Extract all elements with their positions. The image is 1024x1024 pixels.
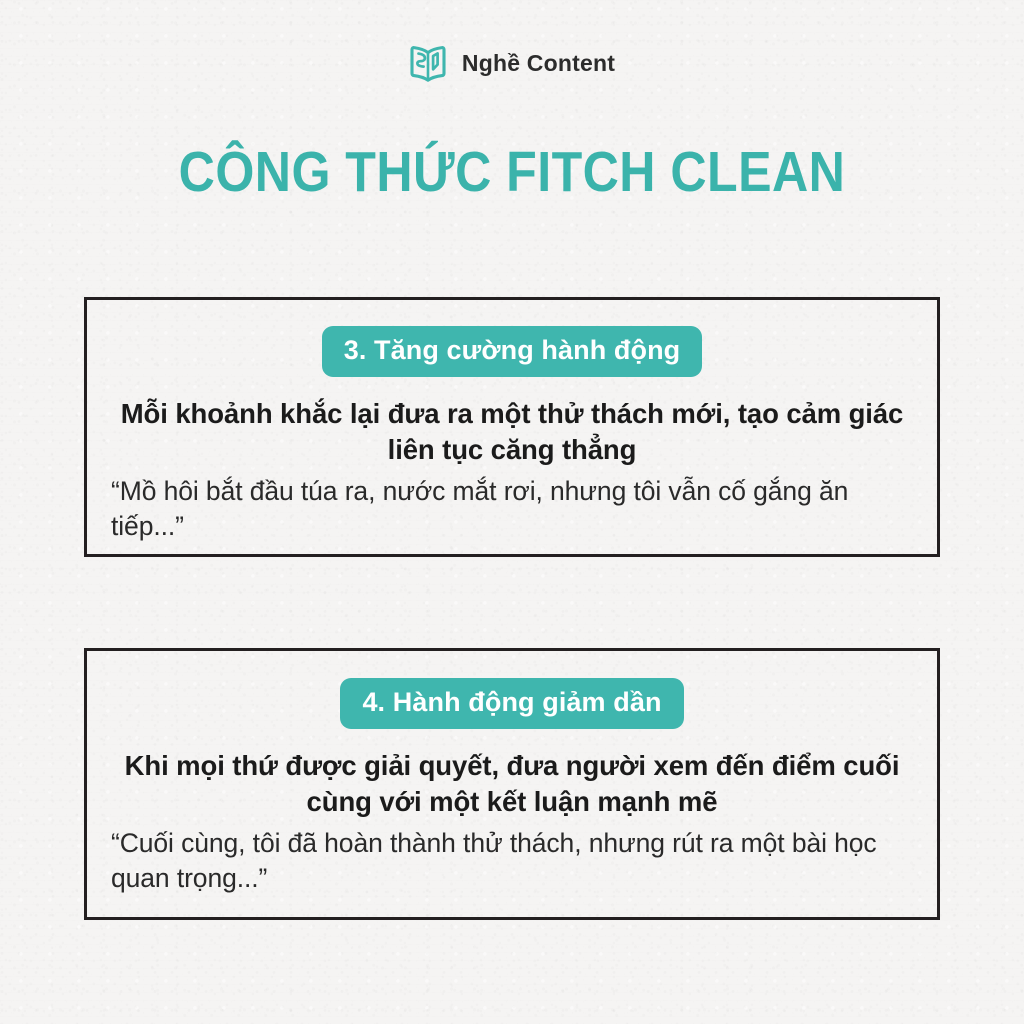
infographic-page: Nghề Content CÔNG THỨC FITCH CLEAN 3. Tă… [0,0,1024,1024]
card-1-headline: Mỗi khoảnh khắc lại đưa ra một thử thách… [109,396,915,468]
card-1-quote: “Mồ hôi bắt đầu túa ra, nước mắt rơi, nh… [109,474,915,544]
open-book-pen-icon [409,42,449,84]
step-badge-3: 3. Tăng cường hành động [322,326,703,377]
formula-card-2: 4. Hành động giảm dần Khi mọi thứ được g… [84,648,940,920]
card-2-quote: “Cuối cùng, tôi đã hoàn thành thử thách,… [109,826,915,896]
badge-row: 3. Tăng cường hành động [109,326,915,377]
badge-row: 4. Hành động giảm dần [109,678,915,729]
card-2-headline: Khi mọi thứ được giải quyết, đưa người x… [109,748,915,820]
step-badge-4: 4. Hành động giảm dần [340,678,683,729]
brand-header: Nghề Content [0,42,1024,84]
formula-card-1: 3. Tăng cường hành động Mỗi khoảnh khắc … [84,297,940,557]
brand-name: Nghề Content [462,52,615,75]
page-title: CÔNG THỨC FITCH CLEAN [61,141,962,204]
